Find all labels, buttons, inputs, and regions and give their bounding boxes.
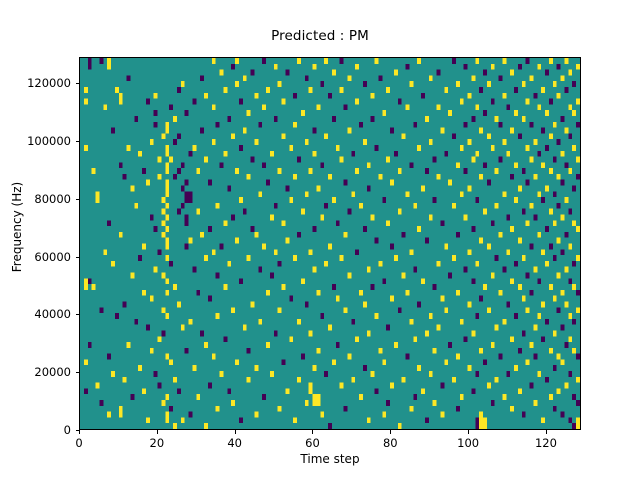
- x-tick-mark: [468, 430, 469, 434]
- y-tick-label: 0: [0, 423, 71, 437]
- x-tick-label: 20: [150, 436, 165, 450]
- heatmap-plot-area[interactable]: [79, 57, 581, 430]
- page-title: Predicted : PM: [0, 28, 640, 44]
- x-tick-label: 80: [383, 436, 398, 450]
- y-tick-label: 40000: [0, 307, 71, 321]
- x-tick-mark: [79, 430, 80, 434]
- y-tick-mark: [76, 199, 80, 200]
- x-tick-label: 40: [227, 436, 242, 450]
- y-tick-label: 80000: [0, 192, 71, 206]
- y-axis-label: Frequency (Hz): [10, 117, 24, 337]
- x-axis-label: Time step: [79, 452, 581, 466]
- y-tick-mark: [76, 83, 80, 84]
- matplotlib-figure: Predicted : PM Time step Frequency (Hz) …: [0, 0, 640, 480]
- y-tick-mark: [76, 430, 80, 431]
- heatmap-image: [80, 58, 580, 429]
- y-tick-mark: [76, 257, 80, 258]
- y-tick-label: 100000: [0, 134, 71, 148]
- x-tick-label: 120: [535, 436, 557, 450]
- x-tick-mark: [546, 430, 547, 434]
- x-tick-label: 100: [457, 436, 479, 450]
- y-tick-mark: [76, 141, 80, 142]
- y-tick-label: 60000: [0, 250, 71, 264]
- y-tick-mark: [76, 314, 80, 315]
- x-tick-mark: [312, 430, 313, 434]
- x-tick-label: 60: [305, 436, 320, 450]
- x-tick-mark: [235, 430, 236, 434]
- x-tick-mark: [157, 430, 158, 434]
- y-tick-label: 120000: [0, 76, 71, 90]
- y-tick-mark: [76, 372, 80, 373]
- x-tick-mark: [390, 430, 391, 434]
- x-tick-label: 0: [75, 436, 82, 450]
- y-tick-label: 20000: [0, 365, 71, 379]
